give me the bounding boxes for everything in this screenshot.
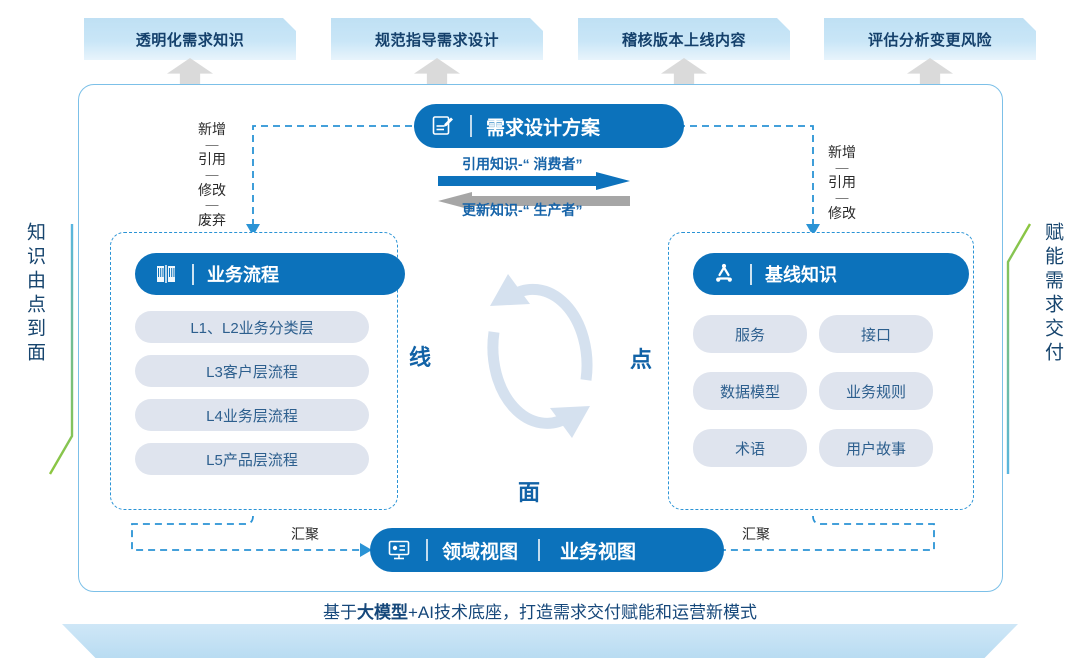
baseline-chip[interactable]: 业务规则 [819,372,933,410]
caption-strong: 大模型 [357,603,408,622]
baseline-chip[interactable]: 接口 [819,315,933,353]
pill-divider [538,539,540,561]
stack-divider: — [206,168,219,182]
stack-divider: — [206,198,219,212]
process-chip[interactable]: L4业务层流程 [135,399,369,431]
document-edit-icon [430,113,456,139]
right-rail-label: 赋能需求交付 [1032,222,1066,366]
plan-pill-label: 需求设计方案 [486,113,600,140]
recycle-icon [711,261,737,287]
outcome-card-4: 评估分析变更风险 [824,18,1036,60]
business-view-label: 业务视图 [560,537,636,564]
baseline-knowledge-title: 基线知识 [765,261,837,287]
outcome-card-label: 稽核版本上线内容 [622,29,746,50]
left-rail-label: 知识由点到面 [14,222,48,366]
baseline-chip[interactable]: 服务 [693,315,807,353]
baseline-knowledge-header[interactable]: 基线知识 [693,253,969,295]
process-chip[interactable]: L1、L2业务分类层 [135,311,369,343]
knowledge-exchange-arrows: 引用知识-“ 消费者” 更新知识-“ 生产者” [430,158,640,220]
bottom-caption: 基于大模型+AI技术底座，打造需求交付赋能和运营新模式 [0,598,1080,623]
right-action-stack: 新增 — 引用 — 修改 [828,145,856,220]
consume-arrow-label: 引用知识-“ 消费者” [462,154,583,174]
action-label: 修改 [828,206,856,221]
view-pill[interactable]: 领域视图 业务视图 [370,528,724,572]
produce-arrow-label: 更新知识-“ 生产者” [462,200,583,220]
action-label: 修改 [198,183,226,198]
caption-suffix: +AI技术底座，打造需求交付赋能和运营新模式 [408,603,757,622]
pill-divider [426,539,428,561]
outcome-card-label: 透明化需求知识 [136,29,245,50]
bottom-banner [62,624,1018,658]
outcome-card-3: 稽核版本上线内容 [578,18,790,60]
business-process-header[interactable]: 业务流程 [135,253,405,295]
consume-arrow-icon [438,172,630,190]
cycle-label-point: 点 [630,342,652,374]
action-label: 新增 [828,145,856,160]
action-label: 引用 [828,175,856,190]
left-action-stack: 新增 — 引用 — 修改 — 废弃 [198,122,226,228]
business-process-title: 业务流程 [207,261,279,287]
caption-prefix: 基于 [323,603,357,622]
stack-divider: — [836,161,849,175]
right-rail-line [1004,222,1034,476]
action-label: 废弃 [198,213,226,228]
business-process-panel: 业务流程 L1、L2业务分类层 L3客户层流程 L4业务层流程 L5产品层流程 [110,232,398,510]
outcome-card-1: 透明化需求知识 [84,18,296,60]
baseline-knowledge-panel: 基线知识 服务 接口 数据模型 业务规则 术语 用户故事 [668,232,974,510]
stack-divider: — [206,138,219,152]
baseline-chip[interactable]: 用户故事 [819,429,933,467]
action-label: 新增 [198,122,226,137]
outcome-card-label: 规范指导需求设计 [375,29,499,50]
domain-view-label: 领域视图 [442,537,518,564]
cycle-label-plane: 面 [518,475,540,507]
process-chip[interactable]: L5产品层流程 [135,443,369,475]
book-icon [153,261,179,287]
view-board-icon [386,537,412,563]
aggregate-label-right: 汇聚 [742,524,770,544]
stack-divider: — [836,191,849,205]
plan-pill[interactable]: 需求设计方案 [414,104,684,148]
pill-divider [470,115,472,137]
left-rail-line [46,222,76,476]
cycle-label-line: 线 [409,340,431,372]
pill-divider [192,264,194,285]
outcome-card-label: 评估分析变更风险 [868,29,992,50]
cycle-arrows-icon [478,258,602,454]
action-label: 引用 [198,152,226,167]
outcome-card-2: 规范指导需求设计 [331,18,543,60]
process-chip[interactable]: L3客户层流程 [135,355,369,387]
pill-divider [750,264,752,285]
diagram-canvas: 透明化需求知识 规范指导需求设计 稽核版本上线内容 评估分析变更风险 知识由点到… [0,0,1080,664]
baseline-chip[interactable]: 术语 [693,429,807,467]
baseline-chip[interactable]: 数据模型 [693,372,807,410]
aggregate-label-left: 汇聚 [291,524,319,544]
